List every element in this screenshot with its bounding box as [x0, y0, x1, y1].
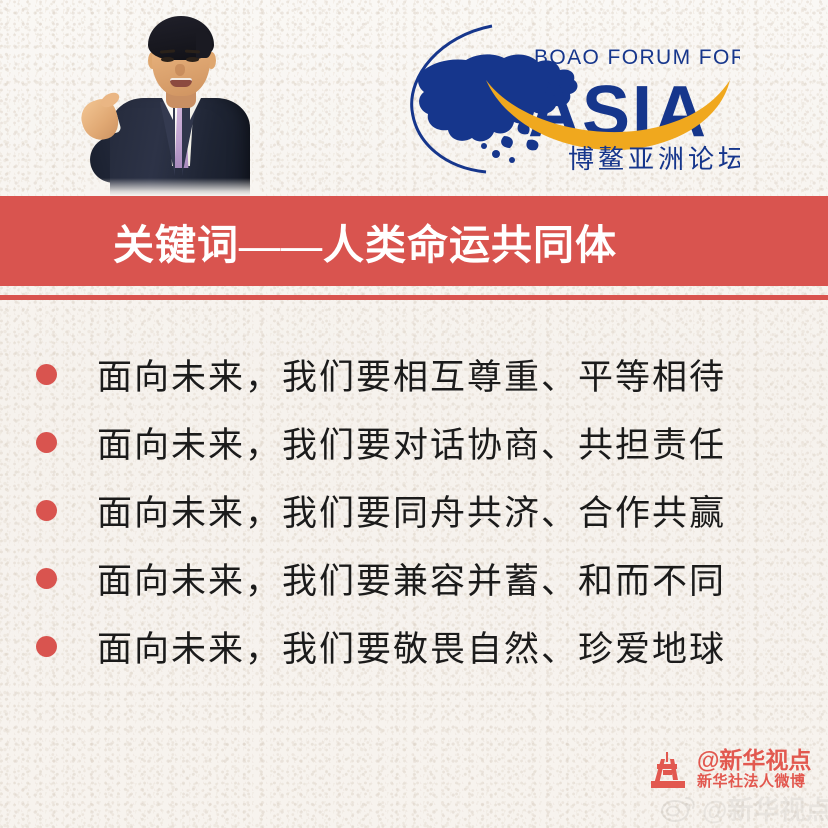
portrait-eye-right — [186, 57, 199, 62]
bullet-list: 面向未来，我们要相互尊重、平等相待 面向未来，我们要对话协商、共担责任 面向未来… — [0, 340, 828, 680]
list-item: 面向未来，我们要同舟共济、合作共赢 — [0, 476, 828, 544]
list-item-text: 面向未来，我们要敬畏自然、珍爱地球 — [97, 621, 726, 672]
bullet-dot-icon — [36, 636, 57, 657]
weibo-eye-icon — [660, 792, 696, 824]
list-item: 面向未来，我们要对话协商、共担责任 — [0, 408, 828, 476]
banner-title: 关键词——人类命运共同体 — [113, 211, 617, 271]
xinhua-text-block: @新华视点 新华社法人微博 — [697, 748, 827, 791]
xinhua-handle: @新华视点 — [697, 748, 827, 773]
list-item: 面向未来，我们要兼容并蓄、和而不同 — [0, 544, 828, 612]
list-item-text: 面向未来，我们要对话协商、共担责任 — [97, 417, 726, 468]
logo-line-en-top: BOAO FORUM FOR — [534, 46, 740, 69]
list-item-text: 面向未来，我们要同舟共济、合作共赢 — [97, 485, 726, 536]
bullet-dot-icon — [36, 568, 57, 589]
portrait-mouth — [170, 78, 192, 87]
portrait-hair — [148, 16, 214, 60]
keyword-banner: 关键词——人类命运共同体 — [0, 196, 828, 286]
banner-gap — [0, 286, 828, 295]
xinhua-subtitle: 新华社法人微博 — [697, 773, 827, 791]
list-item-text: 面向未来，我们要兼容并蓄、和而不同 — [97, 553, 726, 604]
list-item-text: 面向未来，我们要相互尊重、平等相待 — [97, 349, 726, 400]
xinhua-branding: @新华视点 新华社法人微博 — [645, 748, 825, 792]
weibo-watermark: @新华视点 — [660, 790, 828, 826]
bullet-dot-icon — [36, 432, 57, 453]
poster-canvas: BOAO FORUM FOR ASIA 博鳌亚洲论坛 关键词——人类命运共同体 … — [0, 0, 828, 828]
boao-forum-logo: BOAO FORUM FOR ASIA 博鳌亚洲论坛 — [400, 18, 740, 178]
speaker-portrait — [86, 2, 262, 196]
list-item: 面向未来，我们要敬畏自然、珍爱地球 — [0, 612, 828, 680]
banner-underline — [0, 295, 828, 300]
weibo-watermark-handle: @新华视点 — [702, 790, 828, 827]
portrait-eye-left — [161, 57, 174, 62]
xinhua-logo-icon — [645, 750, 691, 790]
logo-line-cn: 博鳌亚洲论坛 — [568, 144, 740, 174]
list-item: 面向未来，我们要相互尊重、平等相待 — [0, 340, 828, 408]
portrait-nose — [175, 64, 185, 76]
portrait-fade — [86, 178, 262, 196]
header: BOAO FORUM FOR ASIA 博鳌亚洲论坛 — [0, 0, 828, 196]
bullet-dot-icon — [36, 364, 57, 385]
bullet-dot-icon — [36, 500, 57, 521]
